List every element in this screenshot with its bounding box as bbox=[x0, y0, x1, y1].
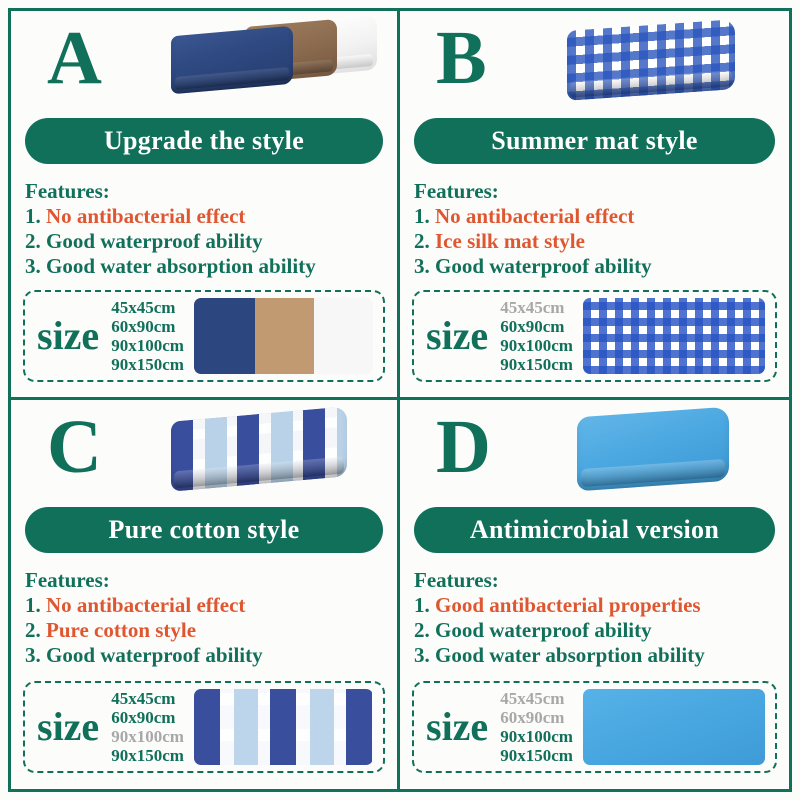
size-option-unavailable: 45x45cm bbox=[500, 298, 573, 317]
panel-c-title-row: Pure cotton style bbox=[11, 498, 397, 562]
panel-d-features: Features: 1. Good antibacterial properti… bbox=[400, 562, 789, 672]
feature-number: 1. bbox=[414, 204, 430, 228]
size-option[interactable]: 60x90cm bbox=[111, 317, 184, 336]
panel-a-product-image bbox=[149, 17, 379, 105]
feature-number: 2. bbox=[414, 229, 430, 253]
panel-a-color-swatch bbox=[194, 298, 373, 374]
features-heading: Features: bbox=[414, 568, 789, 593]
feature-number: 1. bbox=[25, 204, 41, 228]
feature-number: 1. bbox=[25, 593, 41, 617]
size-option-unavailable: 45x45cm bbox=[500, 689, 573, 708]
pad-solid-blue-layer bbox=[577, 407, 729, 492]
panel-a-size-list: 45x45cm 60x90cm 90x100cm 90x150cm bbox=[105, 298, 184, 374]
feature-item: 1. No antibacterial effect bbox=[414, 204, 789, 229]
panel-b-header: B bbox=[400, 11, 789, 109]
size-label: size bbox=[35, 314, 105, 358]
panel-d-title: Antimicrobial version bbox=[414, 507, 775, 553]
panel-a-title-row: Upgrade the style bbox=[11, 109, 397, 173]
feature-item: 3. Good waterproof ability bbox=[25, 643, 397, 668]
product-panel-b[interactable]: B Summer mat style Features: 1. No antib… bbox=[400, 11, 789, 400]
feature-text: Ice silk mat style bbox=[435, 229, 585, 253]
panel-c-letter: C bbox=[47, 402, 102, 492]
feature-text: Good waterproof ability bbox=[46, 229, 263, 253]
panel-a-letter: A bbox=[47, 13, 102, 103]
feature-item: 1. No antibacterial effect bbox=[25, 204, 397, 229]
feature-text: Good waterproof ability bbox=[435, 618, 652, 642]
size-option[interactable]: 90x150cm bbox=[111, 355, 184, 374]
feature-item: 3. Good waterproof ability bbox=[414, 254, 789, 279]
features-heading: Features: bbox=[25, 179, 397, 204]
feature-text: Good water absorption ability bbox=[435, 643, 705, 667]
size-option-unavailable: 60x90cm bbox=[500, 708, 573, 727]
panel-b-color-swatch bbox=[583, 298, 765, 374]
feature-number: 2. bbox=[25, 229, 41, 253]
feature-text: Good waterproof ability bbox=[46, 643, 263, 667]
feature-number: 3. bbox=[25, 254, 41, 278]
panel-c-header: C bbox=[11, 400, 397, 498]
feature-text: No antibacterial effect bbox=[435, 204, 634, 228]
panel-d-size-box: size 45x45cm 60x90cm 90x100cm 90x150cm bbox=[412, 681, 777, 773]
size-option[interactable]: 90x100cm bbox=[500, 727, 573, 746]
panel-c-size-wrap: size 45x45cm 60x90cm 90x100cm 90x150cm bbox=[11, 672, 397, 789]
panel-d-size-list: 45x45cm 60x90cm 90x100cm 90x150cm bbox=[494, 689, 573, 765]
panel-c-product-image bbox=[149, 406, 379, 494]
feature-number: 3. bbox=[25, 643, 41, 667]
size-option[interactable]: 90x150cm bbox=[111, 746, 184, 765]
feature-text: Good waterproof ability bbox=[435, 254, 652, 278]
panel-b-size-wrap: size 45x45cm 60x90cm 90x100cm 90x150cm bbox=[400, 283, 789, 397]
size-option[interactable]: 60x90cm bbox=[111, 708, 184, 727]
size-option[interactable]: 90x150cm bbox=[500, 746, 573, 765]
panel-d-header: D bbox=[400, 400, 789, 498]
panel-d-color-swatch bbox=[583, 689, 765, 765]
size-option-unavailable: 90x100cm bbox=[111, 727, 184, 746]
panel-a-size-box: size 45x45cm 60x90cm 90x100cm 90x150cm bbox=[23, 290, 385, 382]
panel-b-product-image bbox=[541, 17, 771, 105]
size-option[interactable]: 45x45cm bbox=[111, 298, 184, 317]
panel-c-title: Pure cotton style bbox=[25, 507, 383, 553]
panel-c-color-swatch bbox=[194, 689, 373, 765]
feature-number: 2. bbox=[25, 618, 41, 642]
size-label: size bbox=[35, 705, 105, 749]
feature-number: 1. bbox=[414, 593, 430, 617]
pad-navy-layer bbox=[171, 26, 293, 95]
panel-c-size-box: size 45x45cm 60x90cm 90x100cm 90x150cm bbox=[23, 681, 385, 773]
panel-b-size-box: size 45x45cm 60x90cm 90x100cm 90x150cm bbox=[412, 290, 777, 382]
feature-item: 2. Pure cotton style bbox=[25, 618, 397, 643]
feature-item: 1. Good antibacterial properties bbox=[414, 593, 789, 618]
feature-text: No antibacterial effect bbox=[46, 204, 245, 228]
size-option[interactable]: 60x90cm bbox=[500, 317, 573, 336]
product-panel-c[interactable]: C Pure cotton style Features: 1. No anti… bbox=[11, 400, 400, 789]
product-variant-grid: A Upgrade the style Features: 1. No anti… bbox=[8, 8, 792, 792]
features-heading: Features: bbox=[414, 179, 789, 204]
size-option[interactable]: 90x100cm bbox=[111, 336, 184, 355]
panel-c-size-list: 45x45cm 60x90cm 90x100cm 90x150cm bbox=[105, 689, 184, 765]
feature-number: 3. bbox=[414, 254, 430, 278]
product-panel-a[interactable]: A Upgrade the style Features: 1. No anti… bbox=[11, 11, 400, 400]
panel-d-letter: D bbox=[436, 402, 491, 492]
panel-b-features: Features: 1. No antibacterial effect 2. … bbox=[400, 173, 789, 283]
size-label: size bbox=[424, 705, 494, 749]
panel-a-header: A bbox=[11, 11, 397, 109]
panel-a-size-wrap: size 45x45cm 60x90cm 90x100cm 90x150cm bbox=[11, 283, 397, 397]
feature-item: 2. Good waterproof ability bbox=[25, 229, 397, 254]
panel-b-title-row: Summer mat style bbox=[400, 109, 789, 173]
panel-b-size-list: 45x45cm 60x90cm 90x100cm 90x150cm bbox=[494, 298, 573, 374]
panel-d-product-image bbox=[541, 406, 771, 494]
feature-number: 2. bbox=[414, 618, 430, 642]
feature-text: Good antibacterial properties bbox=[435, 593, 701, 617]
feature-item: 2. Good waterproof ability bbox=[414, 618, 789, 643]
feature-item: 2. Ice silk mat style bbox=[414, 229, 789, 254]
comparison-infographic: A Upgrade the style Features: 1. No anti… bbox=[0, 0, 800, 800]
panel-a-title: Upgrade the style bbox=[25, 118, 383, 164]
panel-b-title: Summer mat style bbox=[414, 118, 775, 164]
feature-text: Pure cotton style bbox=[46, 618, 196, 642]
feature-item: 1. No antibacterial effect bbox=[25, 593, 397, 618]
size-option[interactable]: 90x150cm bbox=[500, 355, 573, 374]
panel-a-features: Features: 1. No antibacterial effect 2. … bbox=[11, 173, 397, 283]
panel-c-features: Features: 1. No antibacterial effect 2. … bbox=[11, 562, 397, 672]
feature-number: 3. bbox=[414, 643, 430, 667]
feature-item: 3. Good water absorption ability bbox=[25, 254, 397, 279]
size-label: size bbox=[424, 314, 494, 358]
pad-plaid-layer bbox=[171, 406, 347, 491]
pad-gingham-layer bbox=[567, 19, 735, 101]
size-option[interactable]: 45x45cm bbox=[111, 689, 184, 708]
feature-item: 3. Good water absorption ability bbox=[414, 643, 789, 668]
panel-d-title-row: Antimicrobial version bbox=[400, 498, 789, 562]
feature-text: No antibacterial effect bbox=[46, 593, 245, 617]
feature-text: Good water absorption ability bbox=[46, 254, 316, 278]
panel-d-size-wrap: size 45x45cm 60x90cm 90x100cm 90x150cm bbox=[400, 672, 789, 789]
product-panel-d[interactable]: D Antimicrobial version Features: 1. Goo… bbox=[400, 400, 789, 789]
features-heading: Features: bbox=[25, 568, 397, 593]
size-option[interactable]: 90x100cm bbox=[500, 336, 573, 355]
panel-b-letter: B bbox=[436, 13, 487, 103]
